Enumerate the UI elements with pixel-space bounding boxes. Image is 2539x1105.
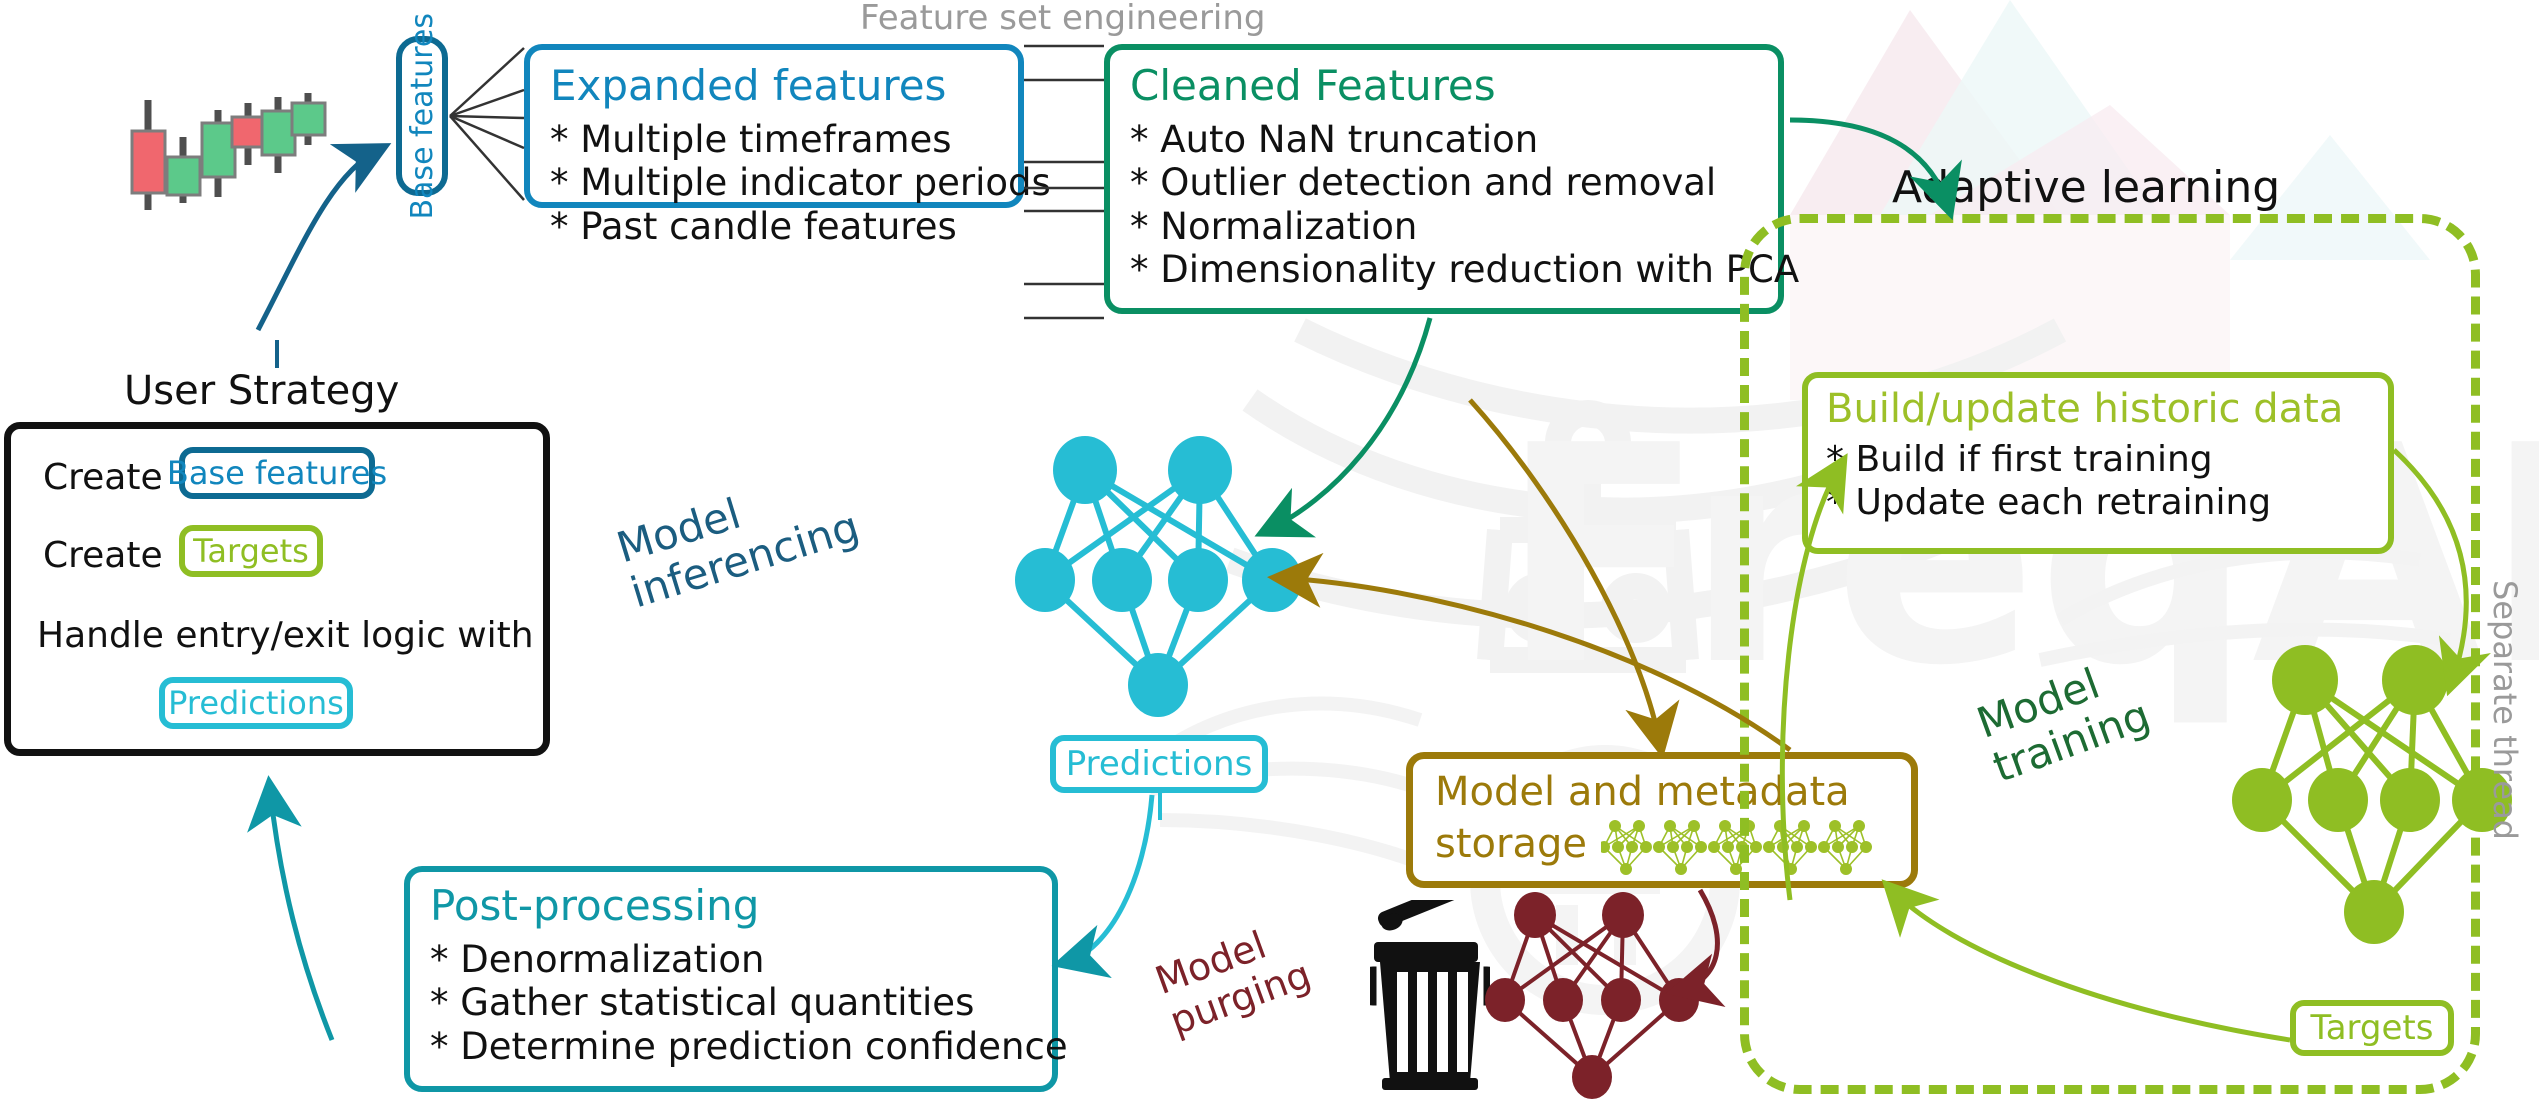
label-separate-thread: Separate thread bbox=[2486, 580, 2524, 840]
badge-base-features[interactable]: Base features bbox=[396, 36, 448, 196]
neural-network-training bbox=[2230, 640, 2520, 950]
list-item: * Normalization bbox=[1130, 205, 1760, 248]
badge-predictions-strategy[interactable]: Predictions bbox=[159, 677, 353, 729]
list-item: * Determine prediction confidence bbox=[430, 1025, 1034, 1068]
label-model-purging: Model purging bbox=[1150, 913, 1316, 1043]
label-model-inferencing: Model inferencing bbox=[611, 458, 864, 617]
cleaned-features-list: * Auto NaN truncation * Outlier detectio… bbox=[1130, 118, 1760, 291]
list-item: * Build if first training bbox=[1826, 438, 2372, 481]
badge-base-features-strategy[interactable]: Base features bbox=[179, 447, 375, 499]
storage-line-2: storage bbox=[1435, 821, 1587, 867]
list-item: * Past candle features bbox=[550, 205, 1000, 248]
panel-post-processing[interactable]: Post-processing * Denormalization * Gath… bbox=[404, 866, 1058, 1092]
expanded-features-list: * Multiple timeframes * Multiple indicat… bbox=[550, 118, 1000, 248]
post-processing-list: * Denormalization * Gather statistical q… bbox=[430, 938, 1034, 1068]
badge-predictions-output[interactable]: Predictions bbox=[1050, 735, 1268, 793]
neural-network-inference bbox=[1010, 430, 1310, 730]
arrow-training-to-storage bbox=[1470, 400, 1660, 744]
panel-user-strategy[interactable]: Create Base features Create Targets Hand… bbox=[4, 422, 550, 756]
arrow-postprocessing-to-strategy bbox=[270, 790, 332, 1040]
arrow-predictions-to-postprocessing bbox=[1066, 795, 1152, 962]
trash-can-icon bbox=[1370, 900, 1490, 1090]
user-strategy-title: User Strategy bbox=[124, 368, 399, 414]
badge-targets-output[interactable]: Targets bbox=[2290, 1000, 2454, 1056]
badge-targets-strategy[interactable]: Targets bbox=[179, 525, 323, 577]
panel-cleaned-features[interactable]: Cleaned Features * Auto NaN truncation *… bbox=[1104, 44, 1784, 314]
neural-network-purged bbox=[1480, 885, 1710, 1105]
arrow-storage-to-inference bbox=[1282, 578, 1790, 750]
panel-expanded-features[interactable]: Expanded features * Multiple timeframes … bbox=[524, 44, 1024, 208]
cleaned-features-title: Cleaned Features bbox=[1130, 64, 1760, 108]
list-item: * Multiple indicator periods bbox=[550, 161, 1000, 204]
list-item: * Gather statistical quantities bbox=[430, 981, 1034, 1024]
adaptive-learning-title: Adaptive learning bbox=[1892, 162, 2280, 213]
build-update-title: Build/update historic data bbox=[1826, 388, 2372, 430]
list-item: * Multiple timeframes bbox=[550, 118, 1000, 161]
list-item: * Denormalization bbox=[430, 938, 1034, 981]
fan-base-to-expanded bbox=[450, 48, 524, 200]
list-item: * Auto NaN truncation bbox=[1130, 118, 1760, 161]
user-strategy-logic-line: Handle entry/exit logic with bbox=[37, 615, 534, 656]
diagram-canvas: FreqAI Feature set engineer bbox=[0, 0, 2539, 1104]
candlestick-chart-icon bbox=[120, 85, 350, 285]
user-strategy-create-1: Create bbox=[43, 457, 163, 498]
list-item: * Dimensionality reduction with PCA bbox=[1130, 248, 1760, 291]
panel-build-update[interactable]: Build/update historic data * Build if fi… bbox=[1802, 372, 2394, 554]
expanded-features-title: Expanded features bbox=[550, 64, 1000, 108]
post-processing-title: Post-processing bbox=[430, 884, 1034, 928]
list-item: * Outlier detection and removal bbox=[1130, 161, 1760, 204]
user-strategy-create-2: Create bbox=[43, 535, 163, 576]
list-item: * Update each retraining bbox=[1826, 481, 2372, 524]
build-update-list: * Build if first training * Update each … bbox=[1826, 438, 2372, 524]
feature-set-engineering-title: Feature set engineering bbox=[860, 0, 1266, 38]
